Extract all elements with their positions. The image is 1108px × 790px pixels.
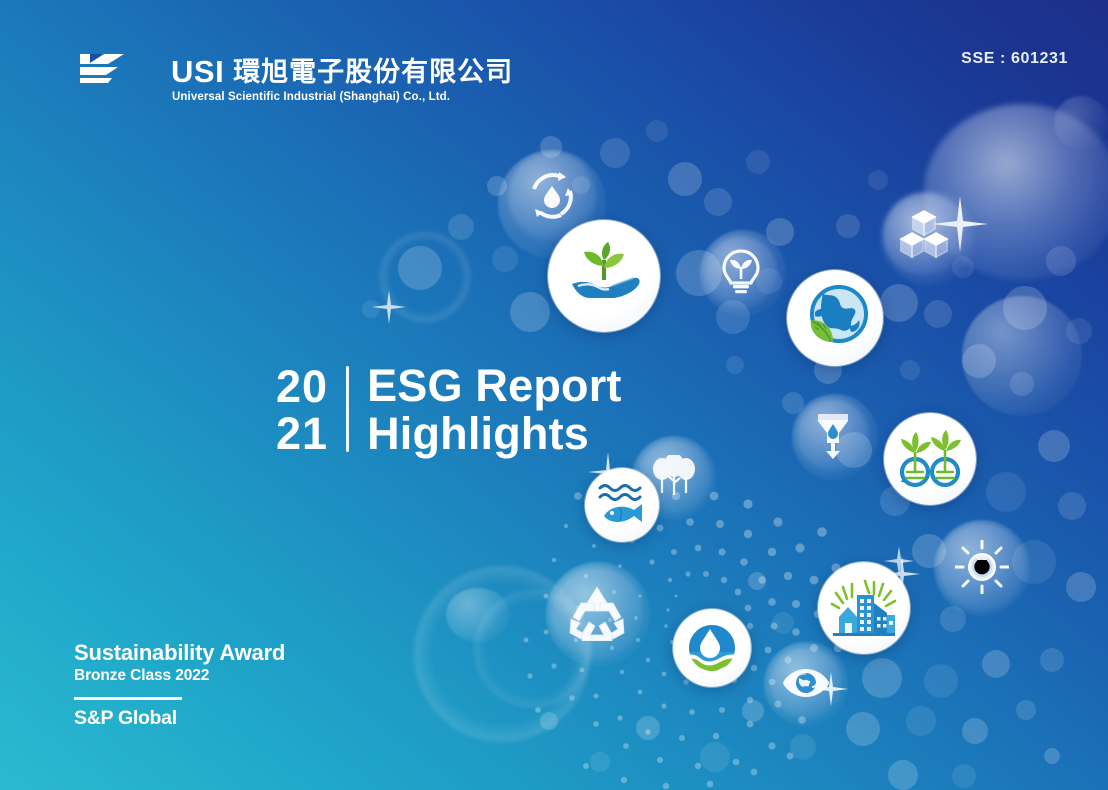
wind-turbine-cycle-icon (884, 413, 976, 505)
bokeh-dot (746, 150, 770, 174)
bokeh-dot (668, 162, 702, 196)
bokeh-dot (1046, 246, 1076, 276)
esg-report-cover: USI 環旭電子股份有限公司 Universal Scientific Indu… (0, 0, 1108, 790)
sparkle-icon (372, 290, 406, 324)
green-city-icon (818, 562, 910, 654)
eye-globe-icon (779, 656, 833, 710)
award-divider (74, 697, 182, 700)
bokeh-dot (726, 356, 744, 374)
globe-leaf-icon (787, 270, 883, 366)
report-year-line2: 21 (276, 411, 328, 458)
bokeh-dot (962, 718, 988, 744)
bokeh-dot (868, 170, 888, 190)
bokeh-dot (1038, 430, 1070, 462)
bokeh-dot (742, 700, 764, 722)
bokeh-dot (492, 246, 518, 272)
bokeh-dot (1010, 372, 1034, 396)
bokeh-dot (962, 344, 996, 378)
recycle-arrows-icon (562, 578, 632, 648)
award-issuer: S&P Global (74, 707, 285, 730)
page-title-line1: ESG Report (367, 362, 622, 410)
bokeh-dot (448, 214, 474, 240)
title-divider (346, 366, 349, 452)
solar-power-icon (949, 534, 1015, 600)
bokeh-dot (940, 606, 966, 632)
bubble (1054, 96, 1108, 150)
bokeh-dot (540, 712, 558, 730)
bokeh-dot (880, 284, 918, 322)
water-recycle-icon (519, 163, 585, 229)
usi-swoosh-logo-icon (78, 50, 162, 86)
bokeh-dot (600, 138, 630, 168)
bokeh-dot (862, 658, 902, 698)
bokeh-dot (1003, 286, 1047, 330)
award-class: Bronze Class 2022 (74, 667, 285, 685)
bokeh-dot (924, 664, 958, 698)
water-drop-waves-icon (673, 609, 751, 687)
logo-company-name-en: Universal Scientific Industrial (Shangha… (172, 91, 513, 103)
bokeh-dot (646, 120, 668, 142)
bokeh-dot (398, 246, 442, 290)
bokeh-dot (782, 392, 804, 414)
hand-holding-plant-icon (548, 220, 660, 332)
stock-code-label: SSE : 601231 (961, 50, 1068, 68)
bokeh-dot (700, 742, 730, 772)
stacked-cubes-icon (893, 203, 955, 265)
bokeh-dot (590, 752, 610, 772)
bubble-highlight (446, 588, 510, 642)
bokeh-dot (906, 706, 936, 736)
bokeh-dot (487, 176, 507, 196)
bokeh-dot (900, 360, 920, 380)
water-filter-glass-icon (806, 408, 860, 462)
bokeh-dot (952, 764, 976, 788)
report-year-line1: 20 (276, 364, 328, 411)
bokeh-dot (510, 292, 550, 332)
bokeh-dot (982, 650, 1010, 678)
bokeh-dot (766, 218, 794, 246)
sustainability-award-badge: Sustainability Award Bronze Class 2022 S… (74, 640, 285, 730)
bokeh-dot (836, 214, 860, 238)
bokeh-dot (748, 572, 766, 590)
bokeh-dot (790, 734, 816, 760)
fish-water-icon (585, 468, 659, 542)
bokeh-dot (888, 760, 918, 790)
bokeh-dot (924, 300, 952, 328)
award-title: Sustainability Award (74, 640, 285, 665)
bokeh-dot (846, 712, 880, 746)
company-logo: USI 環旭電子股份有限公司 Universal Scientific Indu… (78, 50, 513, 103)
logo-wordmark: USI (171, 57, 224, 86)
report-year: 20 21 (276, 362, 328, 458)
cover-title: 20 21 ESG Report Highlights (276, 362, 622, 458)
bubble (962, 296, 1082, 416)
bubble-outline (380, 232, 470, 322)
bokeh-dot (1066, 572, 1096, 602)
bokeh-dot (362, 300, 380, 318)
bokeh-dot (1040, 648, 1064, 672)
bokeh-dot (1066, 318, 1092, 344)
bokeh-dot (1044, 748, 1060, 764)
logo-company-name-cn: 環旭電子股份有限公司 (233, 59, 513, 86)
bokeh-dot (1058, 492, 1086, 520)
lightbulb-leaf-icon (714, 245, 768, 299)
bokeh-dot (636, 716, 660, 740)
page-title-line2: Highlights (367, 410, 622, 458)
bokeh-dot (772, 612, 794, 634)
bokeh-dot (986, 472, 1026, 512)
bokeh-dot (704, 188, 732, 216)
bokeh-dot (1016, 700, 1036, 720)
